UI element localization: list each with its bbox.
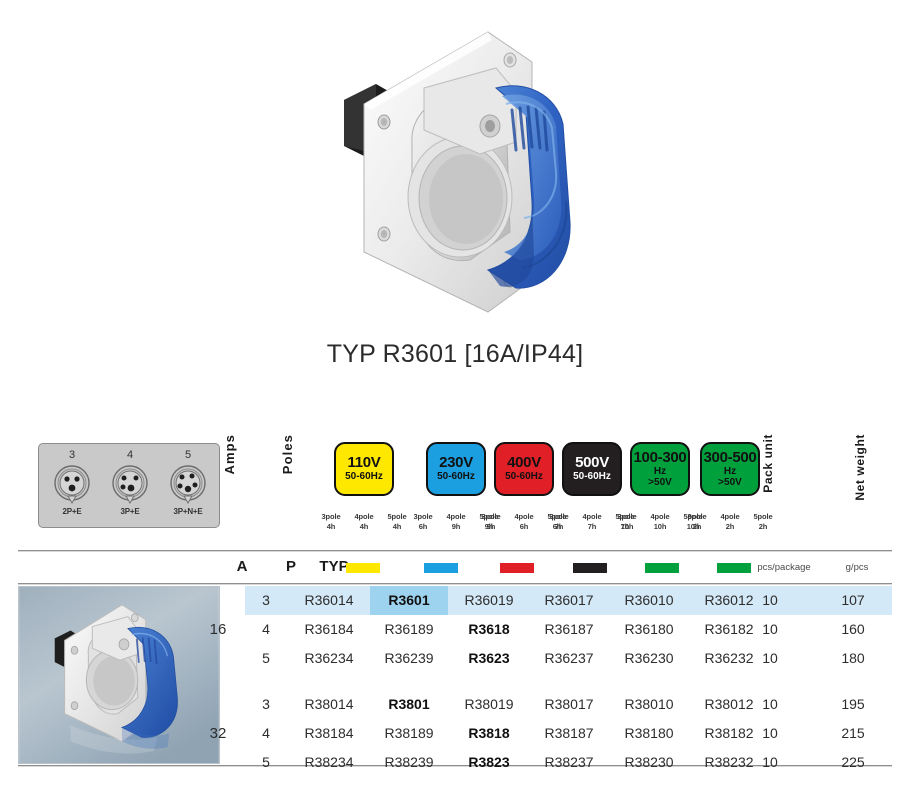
voltage-badge-500v-line2: 50-60Hz — [573, 471, 611, 483]
column-header-amps: Amps — [222, 434, 237, 475]
voltage-badge-300-500hz-line1: 300-500 — [704, 450, 757, 466]
cell-code: R38180 — [610, 719, 688, 748]
color-swatch-110v — [346, 563, 380, 573]
cell-net-weight: 215 — [823, 719, 883, 748]
cell-pack-unit: 10 — [742, 748, 798, 777]
voltage-badge-100-300hz-line2: Hz — [654, 466, 666, 477]
subheader-amps: A — [221, 558, 263, 575]
cell-code: R36019 — [450, 586, 528, 615]
cell-code: R36239 — [370, 644, 448, 673]
voltage-badge-400v: 400V 50-60Hz — [494, 442, 554, 496]
polehours-100-300hz-4pole: 4pole10h — [645, 512, 675, 532]
voltage-badge-500v: 500V 50-60Hz — [562, 442, 622, 496]
cell-pack-unit: 10 — [742, 615, 798, 644]
cell-pack-unit: 10 — [742, 719, 798, 748]
cell-poles: 5 — [245, 644, 287, 673]
polehours-400v-3pole: 3pole9h — [476, 512, 506, 532]
cell-code: R36184 — [290, 615, 368, 644]
socket-face-4pin-icon — [110, 463, 150, 507]
table-row[interactable]: 4R38184R38189R3818R38187R38180R381821021… — [245, 719, 892, 748]
cell-code: R36010 — [610, 586, 688, 615]
cell-code: R38187 — [530, 719, 608, 748]
cell-pack-unit: 10 — [742, 644, 798, 673]
cell-pack-unit: 10 — [742, 586, 798, 615]
voltage-badge-100-300hz: 100-300 Hz >50V — [630, 442, 690, 496]
cell-code: R36180 — [610, 615, 688, 644]
cell-code: R38239 — [370, 748, 448, 777]
cell-code: R36230 — [610, 644, 688, 673]
voltage-badge-300-500hz-line3: >50V — [718, 477, 742, 488]
cell-poles: 3 — [245, 586, 287, 615]
polehours-500v-3pole: 3pole7h — [544, 512, 574, 532]
cell-net-weight: 180 — [823, 644, 883, 673]
cell-code: R38237 — [530, 748, 608, 777]
pin-config-5-label: 3P+N+E — [159, 507, 217, 517]
product-datasheet-page: TYP R3601 [16A/IP44] 3 2P+E 4 — [0, 0, 910, 798]
voltage-badge-400v-line1: 400V — [507, 455, 541, 471]
column-header-net-weight: Net weight — [853, 434, 867, 501]
socket-thumbnail-illustration — [19, 587, 219, 763]
table-subheader-row: A P TYP pcs/package g/pcs — [0, 556, 910, 582]
voltage-badge-100-300hz-line3: >50V — [648, 477, 672, 488]
pin-config-5-number: 5 — [159, 449, 217, 462]
cell-code: R36187 — [530, 615, 608, 644]
cell-code: R3801 — [370, 690, 448, 719]
pin-config-3-label: 2P+E — [43, 507, 101, 517]
cell-code: R36237 — [530, 644, 608, 673]
polehours-230v-4pole: 4pole9h — [441, 512, 471, 532]
cell-amps-group: 16 — [198, 621, 238, 638]
table-row[interactable]: 3R38014R3801R38019R38017R38010R380121019… — [245, 690, 892, 719]
pin-config-4-number: 4 — [101, 449, 159, 462]
socket-face-5pin-icon — [168, 463, 208, 507]
socket-face-3pin-icon — [52, 463, 92, 507]
cell-code: R3618 — [450, 615, 528, 644]
cell-code: R3818 — [450, 719, 528, 748]
cell-code: R38234 — [290, 748, 368, 777]
pin-config-4-label: 3P+E — [101, 507, 159, 517]
column-header-poles: Poles — [280, 434, 295, 474]
polehours-300-500hz-3pole: 3pole2h — [682, 512, 712, 532]
polehours-400v-4pole: 4pole6h — [509, 512, 539, 532]
cell-net-weight: 225 — [823, 748, 883, 777]
cell-code: R38017 — [530, 690, 608, 719]
cell-code: R36189 — [370, 615, 448, 644]
socket-illustration — [320, 22, 610, 332]
table-row[interactable]: 4R36184R36189R3618R36187R36180R361821016… — [245, 615, 892, 644]
cell-code: R3601 — [370, 586, 448, 615]
subheader-pack-unit: pcs/package — [738, 562, 830, 573]
polehours-300-500hz: 3pole2h 4pole2h 5pole2h — [682, 512, 778, 532]
voltage-badge-300-500hz-line2: Hz — [724, 466, 736, 477]
voltage-badge-230v: 230V 50-60Hz — [426, 442, 486, 496]
polehours-110v-4pole: 4pole4h — [349, 512, 379, 532]
cell-poles: 5 — [245, 748, 287, 777]
cell-code: R36017 — [530, 586, 608, 615]
voltage-badge-230v-line2: 50-60Hz — [437, 471, 475, 483]
polehours-300-500hz-4pole: 4pole2h — [715, 512, 745, 532]
cell-net-weight: 195 — [823, 690, 883, 719]
voltage-badge-400v-line2: 50-60Hz — [505, 471, 543, 483]
cell-pack-unit: 10 — [742, 690, 798, 719]
color-swatch-100-300hz — [645, 563, 679, 573]
cell-code: R36014 — [290, 586, 368, 615]
cell-code: R3823 — [450, 748, 528, 777]
cell-code: R36234 — [290, 644, 368, 673]
voltage-badge-230v-line1: 230V — [439, 455, 473, 471]
polehours-110v-3pole: 3pole4h — [316, 512, 346, 532]
product-hero-image — [320, 22, 610, 332]
voltage-badge-110v-line2: 50-60Hz — [345, 471, 383, 483]
voltage-badge-110v: 110V 50-60Hz — [334, 442, 394, 496]
voltage-badge-110v-line1: 110V — [347, 455, 380, 471]
table-rule-top — [18, 550, 892, 552]
color-swatch-230v — [424, 563, 458, 573]
color-swatch-500v — [573, 563, 607, 573]
voltage-badge-300-500hz: 300-500 Hz >50V — [700, 442, 760, 496]
pin-config-4: 4 3P+E — [101, 449, 159, 525]
polehours-100-300hz-3pole: 3pole10h — [612, 512, 642, 532]
table-row[interactable]: 3R36014R3601R36019R36017R36010R360121010… — [245, 586, 892, 615]
cell-code: R38230 — [610, 748, 688, 777]
cell-code: R38189 — [370, 719, 448, 748]
table-row[interactable]: 5R36234R36239R3623R36237R36230R362321018… — [245, 644, 892, 673]
cell-code: R38010 — [610, 690, 688, 719]
column-header-pack-unit: Pack unit — [761, 434, 775, 493]
voltage-badge-500v-line1: 500V — [575, 455, 609, 471]
polehours-500v-4pole: 4pole7h — [577, 512, 607, 532]
cell-poles: 4 — [245, 719, 287, 748]
polehours-110v: 3pole4h 4pole4h 5pole4h — [316, 512, 412, 532]
polehours-230v-3pole: 3pole6h — [408, 512, 438, 532]
cell-amps-group: 32 — [198, 725, 238, 742]
legend-strip: 3 2P+E 4 — [0, 428, 910, 548]
polehours-300-500hz-5pole: 5pole2h — [748, 512, 778, 532]
pin-config-5: 5 3P+N+E — [159, 449, 217, 525]
product-thumbnail[interactable] — [18, 586, 220, 764]
cell-poles: 4 — [245, 615, 287, 644]
product-title: TYP R3601 [16A/IP44] — [0, 340, 910, 369]
voltage-badge-100-300hz-line1: 100-300 — [634, 450, 687, 466]
cell-code: R38184 — [290, 719, 368, 748]
color-swatch-400v — [500, 563, 534, 573]
cell-code: R38014 — [290, 690, 368, 719]
table-row[interactable]: 5R38234R38239R3823R38237R38230R382321022… — [245, 748, 892, 777]
pin-config-3-number: 3 — [43, 449, 101, 462]
table-rule-mid — [18, 583, 892, 585]
product-code-table: 3R36014R3601R36019R36017R36010R360121010… — [245, 586, 892, 764]
cell-net-weight: 160 — [823, 615, 883, 644]
subheader-poles: P — [270, 558, 312, 575]
cell-poles: 3 — [245, 690, 287, 719]
pin-configuration-diagram: 3 2P+E 4 — [38, 443, 220, 528]
cell-net-weight: 107 — [823, 586, 883, 615]
pin-config-3: 3 2P+E — [43, 449, 101, 525]
cell-code: R3623 — [450, 644, 528, 673]
cell-code: R38019 — [450, 690, 528, 719]
subheader-net-weight: g/pcs — [826, 562, 888, 573]
